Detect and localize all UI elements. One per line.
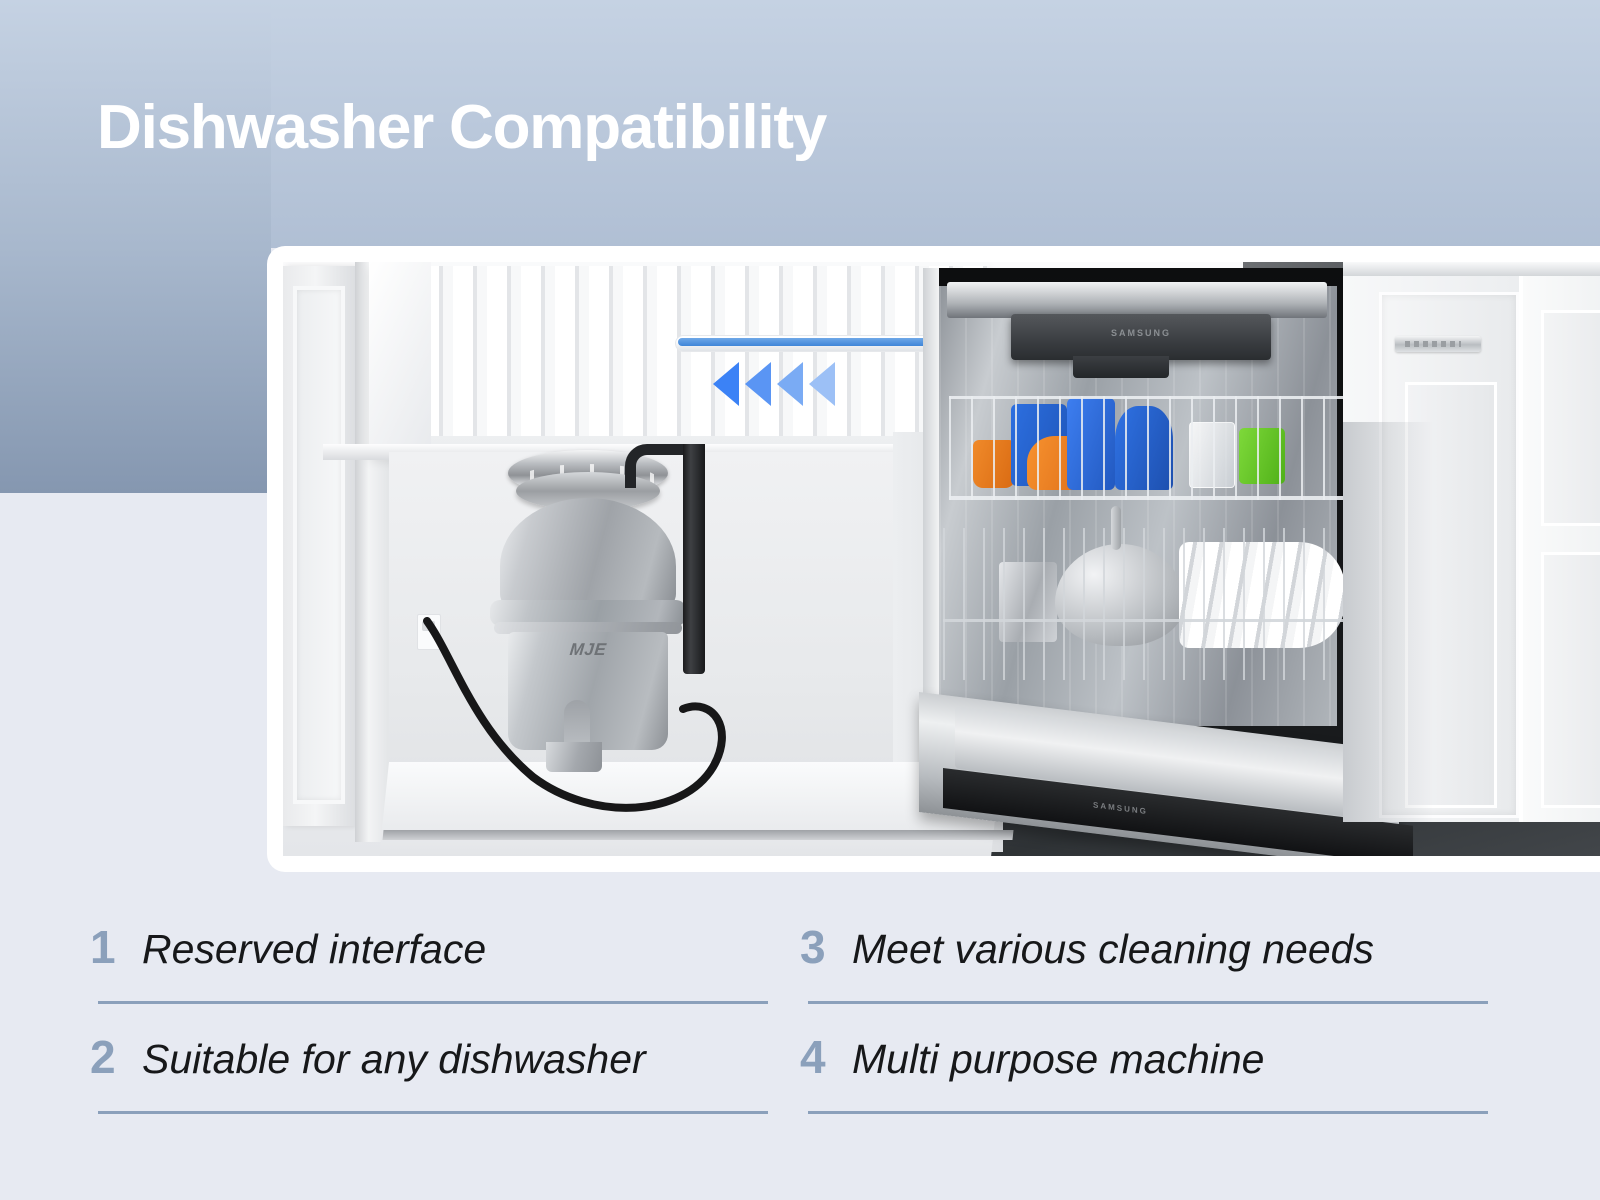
right-countertop-edge <box>1343 262 1600 276</box>
disposal-brand-logo: MJE <box>537 640 639 660</box>
dishwasher-upper-dispenser: SAMSUNG <box>1011 314 1271 360</box>
page-title: Dishwasher Compatibility <box>97 92 826 163</box>
feature-label: Suitable for any dishwasher <box>142 1012 646 1106</box>
dishwasher-dispenser-housing <box>1073 356 1169 378</box>
feature-item-3[interactable]: 3 Meet various cleaning needs <box>800 900 1490 1010</box>
chevron-left-icon <box>745 362 771 406</box>
right-cabinet-b-upper-panel <box>1541 310 1600 526</box>
chevron-left-icon <box>777 362 803 406</box>
infographic-page: Dishwasher Compatibility <box>0 0 1600 1200</box>
disposal-dome <box>500 498 676 608</box>
feature-divider <box>98 1111 768 1114</box>
garbage-disposal-unit: MJE <box>468 450 708 770</box>
lower-rack-wires <box>943 528 1347 680</box>
feature-divider <box>98 1001 768 1004</box>
dishwasher-upper-rack <box>949 396 1345 500</box>
disposal-base <box>546 742 602 772</box>
feature-item-1[interactable]: 1 Reserved interface <box>90 900 770 1010</box>
cabinet-door-open <box>283 266 355 826</box>
dishwasher-cavity: SAMSUNG <box>923 268 1353 768</box>
dishwasher-door-brand-label: SAMSUNG <box>1093 800 1148 816</box>
cabinet-shadow <box>1343 422 1433 822</box>
feature-number: 3 <box>800 900 852 994</box>
feature-label: Meet various cleaning needs <box>852 902 1374 996</box>
background-gradient-block <box>0 0 271 493</box>
feature-divider <box>808 1111 1488 1114</box>
appliance-control-panel <box>1395 336 1481 352</box>
hero-photo-frame: MJE SAMSUNG <box>267 246 1600 872</box>
feature-label: Reserved interface <box>142 902 486 996</box>
sink-left-face <box>369 262 431 450</box>
dishwasher-top-trim <box>947 282 1327 318</box>
feature-column-right: 3 Meet various cleaning needs 4 Multi pu… <box>800 900 1490 1120</box>
dishwasher-lower-rack <box>943 528 1347 680</box>
upper-rack-wires <box>949 396 1345 500</box>
cabinet-door-panel <box>293 286 345 804</box>
feature-number: 1 <box>90 900 142 994</box>
feature-column-left: 1 Reserved interface 2 Suitable for any … <box>90 900 770 1120</box>
right-cabinet-b-lower-panel <box>1541 552 1600 808</box>
farmhouse-sink <box>369 262 989 456</box>
feature-divider <box>808 1001 1488 1004</box>
feature-number: 2 <box>90 1010 142 1104</box>
chevron-left-icon <box>713 362 739 406</box>
drain-pipe <box>683 444 705 674</box>
feature-item-4[interactable]: 4 Multi purpose machine <box>800 1010 1490 1120</box>
flow-direction-arrows <box>713 362 835 406</box>
chevron-left-icon <box>809 362 835 406</box>
feature-label: Multi purpose machine <box>852 1012 1264 1106</box>
dishwasher-brand-label: SAMSUNG <box>1011 328 1271 338</box>
hero-photo: MJE SAMSUNG <box>283 262 1600 856</box>
feature-item-2[interactable]: 2 Suitable for any dishwasher <box>90 1010 770 1120</box>
feature-number: 4 <box>800 1010 852 1104</box>
